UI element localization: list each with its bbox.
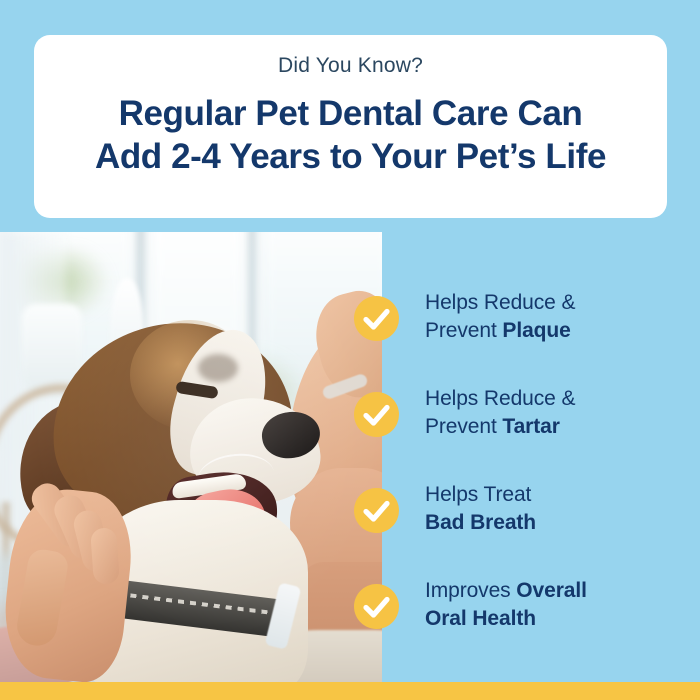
- check-icon: [354, 584, 399, 629]
- benefit-line-1: Helps Reduce &: [425, 385, 575, 413]
- page-title: Regular Pet Dental Care Can Add 2-4 Year…: [95, 93, 606, 178]
- benefit-line-2: Prevent Plaque: [425, 317, 575, 345]
- benefit-line-2-bold: Plaque: [502, 319, 570, 342]
- person-finger-4: [90, 527, 120, 585]
- benefit-text-bad-breath: Helps Treat Bad Breath: [425, 473, 536, 537]
- benefit-line-2-bold: Tartar: [502, 415, 559, 438]
- benefit-item-oral-health: Improves Overall Oral Health: [354, 569, 684, 665]
- eyebrow-text: Did You Know?: [278, 54, 423, 77]
- check-icon: [354, 392, 399, 437]
- benefit-text-tartar: Helps Reduce & Prevent Tartar: [425, 377, 575, 441]
- benefit-text-oral-health: Improves Overall Oral Health: [425, 569, 587, 633]
- dog-dental-care-photo: [0, 232, 382, 682]
- benefit-line-2: Bad Breath: [425, 509, 536, 537]
- benefit-line-2: Prevent Tartar: [425, 413, 575, 441]
- headline-line-2: Add 2-4 Years to Your Pet’s Life: [95, 136, 606, 179]
- dog-brow: [198, 354, 238, 382]
- benefit-line-2-regular: Prevent: [425, 319, 502, 342]
- bottom-accent-bar: [0, 682, 700, 700]
- headline-line-1: Regular Pet Dental Care Can: [95, 93, 606, 136]
- benefit-line-2-regular: Prevent: [425, 415, 502, 438]
- benefit-line-1-bold: Overall: [516, 579, 587, 602]
- benefit-line-1-regular: Improves: [425, 579, 516, 602]
- benefit-item-bad-breath: Helps Treat Bad Breath: [354, 473, 684, 569]
- benefit-line-2-bold: Oral Health: [425, 607, 536, 630]
- benefit-line-1: Helps Reduce &: [425, 289, 575, 317]
- photo-scene: [0, 232, 382, 682]
- benefit-text-plaque: Helps Reduce & Prevent Plaque: [425, 281, 575, 345]
- poster-root: Did You Know? Regular Pet Dental Care Ca…: [0, 0, 700, 700]
- headline-card: Did You Know? Regular Pet Dental Care Ca…: [34, 35, 667, 218]
- benefit-line-1: Improves Overall: [425, 577, 587, 605]
- benefits-list: Helps Reduce & Prevent Plaque Helps Redu…: [354, 281, 684, 665]
- benefit-line-2: Oral Health: [425, 605, 587, 633]
- benefit-item-plaque: Helps Reduce & Prevent Plaque: [354, 281, 684, 377]
- benefit-line-1: Helps Treat: [425, 481, 536, 509]
- benefit-line-2-bold: Bad Breath: [425, 511, 536, 534]
- check-icon: [354, 488, 399, 533]
- check-icon: [354, 296, 399, 341]
- benefit-item-tartar: Helps Reduce & Prevent Tartar: [354, 377, 684, 473]
